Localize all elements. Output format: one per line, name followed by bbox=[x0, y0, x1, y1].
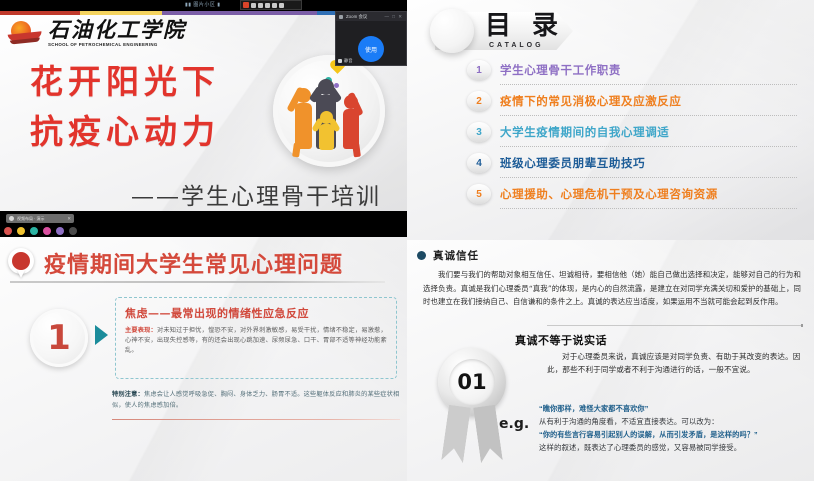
slide4-body-text: 对于心理委员来说，真诚应该是对同学负责、有助于其改变的表达。因此，那些不利于同学… bbox=[547, 350, 802, 376]
slide-catalog-page: 目 录 CATALOG 1 学生心理骨干工作职责 2 疫情下的常见消极心理及应激… bbox=[407, 0, 814, 240]
color-dot-black[interactable] bbox=[69, 227, 77, 235]
logo-chinese-name: 石油化工学院 bbox=[48, 19, 186, 40]
anxiety-note-divider bbox=[112, 419, 400, 420]
medal-ribbon-right bbox=[473, 405, 503, 464]
anxiety-box-lead: 主要表现： bbox=[125, 327, 157, 334]
medal-ring: 01 bbox=[438, 348, 506, 416]
example-line-quote-2: “你的有些言行容易引起别人的误解，从而引发矛盾，是这样的吗？” bbox=[539, 428, 804, 441]
slide2-heading: 疫情期间大学生常见心理问题 bbox=[44, 247, 343, 279]
catalog-item-4[interactable]: 4 班级心理委员朋辈互助技巧 bbox=[467, 155, 797, 186]
example-line-quote-1: “瞧你那样，难怪大家都不喜欢你” bbox=[539, 402, 804, 415]
annotate-text-icon[interactable] bbox=[251, 3, 256, 8]
layout-icon[interactable] bbox=[9, 216, 14, 221]
zoom-window-controls[interactable]: — □ ✕ bbox=[385, 14, 404, 20]
catalog-number-2: 2 bbox=[467, 91, 491, 111]
zoom-window-titlebar[interactable]: Zoom 会议 — □ ✕ bbox=[336, 12, 406, 21]
slide-title-line-2: 抗疫心动力 bbox=[30, 107, 220, 157]
catalog-circle-decoration bbox=[430, 9, 474, 53]
catalog-underline-5 bbox=[500, 207, 797, 209]
slide2-header: 疫情期间大学生常见心理问题 bbox=[8, 247, 343, 279]
catalog-number-1: 1 bbox=[467, 60, 491, 80]
anxiety-note: 特别注意：焦虑会让人感觉呼吸急促、胸闷、身体乏力、肠胃不适。这些躯体反应和肺炎的… bbox=[112, 389, 402, 411]
catalog-label-4: 班级心理委员朋辈互助技巧 bbox=[500, 155, 645, 171]
catalog-number-4: 4 bbox=[467, 153, 491, 173]
location-pin-icon bbox=[8, 248, 34, 278]
color-dot-purple[interactable] bbox=[56, 227, 64, 235]
color-dot-pink[interactable] bbox=[43, 227, 51, 235]
color-bar-purple bbox=[162, 11, 317, 15]
annotate-brush-icon[interactable] bbox=[243, 2, 249, 8]
example-lines: “瞧你那样，难怪大家都不喜欢你” 从有利于沟通的角度看，不适宜直接表达。可以改为… bbox=[539, 402, 804, 454]
anxiety-box-heading: 焦虑——最常出现的情绪性应急反应 bbox=[125, 305, 387, 321]
catalog-underline-4 bbox=[500, 176, 797, 178]
catalog-number-3: 3 bbox=[467, 122, 491, 142]
zoom-primary-button[interactable]: 使用 bbox=[358, 36, 384, 62]
catalog-label-2: 疫情下的常见消极心理及应激反应 bbox=[500, 93, 682, 109]
example-line-note-2: 这样的叙述，既表达了心理委员的感觉，又容易被同学接受。 bbox=[539, 441, 804, 454]
catalog-item-5[interactable]: 5 心理援助、心理危机干预及心理咨询资源 bbox=[467, 186, 797, 217]
annotate-highlight-icon[interactable] bbox=[265, 3, 270, 8]
catalog-title-en: CATALOG bbox=[489, 42, 544, 49]
color-dot-red[interactable] bbox=[4, 227, 12, 235]
catalog-number-5: 5 bbox=[467, 184, 491, 204]
slide-sincerity-page: 真诚信任 我们要与我们的帮助对象相互信任、坦诚相待，要相信他（她）能自己做出选择… bbox=[407, 240, 814, 481]
color-dot-row[interactable] bbox=[4, 227, 77, 235]
color-bar-red bbox=[0, 11, 80, 15]
anxiety-box-body: 主要表现：对未知过于担忧，惶恐不安，对外界刺激敏感，易受干扰，情绪不稳定，易激惹… bbox=[125, 326, 387, 356]
zoom-meeting-window[interactable]: Zoom 会议 — □ ✕ 使用 静音 bbox=[335, 11, 407, 66]
microphone-icon bbox=[338, 59, 342, 63]
color-dot-yellow[interactable] bbox=[17, 227, 25, 235]
catalog-underline-1 bbox=[500, 83, 797, 85]
left-slide-column: ▮▮ 图片小区 ▮ bbox=[0, 0, 407, 481]
arrow-right-icon bbox=[95, 325, 108, 345]
zoom-mute-label: 静音 bbox=[344, 58, 352, 64]
example-label: e.g. bbox=[499, 416, 529, 432]
zoom-app-icon bbox=[339, 15, 343, 19]
close-icon[interactable]: ✕ bbox=[67, 216, 71, 222]
slide4-paragraph: 我们要与我们的帮助对象相互信任、坦诚相待，要相信他（她）能自己做出选择和决定，能… bbox=[423, 268, 801, 309]
slide4-divider bbox=[547, 325, 802, 326]
right-slide-column: 目 录 CATALOG 1 学生心理骨干工作职责 2 疫情下的常见消极心理及应激… bbox=[407, 0, 814, 481]
slide-anxiety-page: 疫情期间大学生常见心理问题 1 焦虑——最常出现的情绪性应急反应 主要表现：对未… bbox=[0, 237, 407, 481]
catalog-label-1: 学生心理骨干工作职责 bbox=[500, 62, 621, 78]
presentation-screen-capture: ▮▮ 图片小区 ▮ bbox=[0, 0, 814, 481]
catalog-item-1[interactable]: 1 学生心理骨干工作职责 bbox=[467, 62, 797, 93]
zoom-window-title: Zoom 会议 bbox=[346, 14, 367, 20]
catalog-label-5: 心理援助、心理危机干预及心理咨询资源 bbox=[500, 186, 718, 202]
annotate-eraser-icon[interactable] bbox=[279, 3, 284, 8]
os-status-bar: ▮▮ 图片小区 ▮ bbox=[0, 0, 407, 11]
slide4-header: 真诚信任 bbox=[417, 248, 479, 263]
slide4-subheading: 真诚不等于说实话 bbox=[515, 332, 607, 348]
screen-annotation-toolbar[interactable] bbox=[240, 0, 302, 10]
example-line-note-1: 从有利于沟通的角度看，不适宜直接表达。可以改为： bbox=[539, 415, 804, 428]
sunrise-logo-icon bbox=[8, 20, 42, 46]
anxiety-box-text: 对未知过于担忧，惶恐不安，对外界刺激敏感，易受干扰，情绪不稳定，易激惹，心神不安… bbox=[125, 327, 387, 354]
zoom-mute-control[interactable]: 静音 bbox=[338, 58, 352, 64]
medal-badge: 01 bbox=[429, 348, 515, 466]
slide2-divider bbox=[10, 281, 385, 283]
catalog-item-2[interactable]: 2 疫情下的常见消极心理及应激反应 bbox=[467, 93, 797, 124]
catalog-title-cn: 目 录 bbox=[485, 13, 564, 39]
anxiety-info-box: 焦虑——最常出现的情绪性应急反应 主要表现：对未知过于担忧，惶恐不安，对外界刺激… bbox=[115, 297, 397, 379]
catalog-underline-3 bbox=[500, 145, 797, 147]
family-illustration bbox=[273, 55, 385, 167]
status-bar-text: ▮▮ 图片小区 ▮ bbox=[185, 1, 221, 8]
meeting-control-pill[interactable]: 视频布局 · 演示 ✕ bbox=[6, 214, 74, 223]
slide-title: 花开阳光下 抗疫心动力 bbox=[30, 57, 220, 157]
slide4-heading: 真诚信任 bbox=[433, 248, 479, 263]
color-bar-yellow bbox=[80, 11, 162, 15]
medal-ribbon-left bbox=[441, 405, 471, 464]
catalog-list: 1 学生心理骨干工作职责 2 疫情下的常见消极心理及应激反应 3 大学生疫情期间… bbox=[467, 62, 797, 217]
medal-number: 01 bbox=[449, 359, 495, 405]
step-number-badge: 1 bbox=[30, 309, 88, 367]
catalog-item-3[interactable]: 3 大学生疫情期间的自我心理调适 bbox=[467, 124, 797, 155]
color-dot-teal[interactable] bbox=[30, 227, 38, 235]
catalog-label-3: 大学生疫情期间的自我心理调适 bbox=[500, 124, 669, 140]
bullet-dot-icon bbox=[417, 251, 426, 260]
annotate-arrow-icon[interactable] bbox=[258, 3, 263, 8]
catalog-underline-2 bbox=[500, 114, 797, 116]
slide-title-line-1: 花开阳光下 bbox=[30, 57, 220, 107]
school-logo: 石油化工学院 SCHOOL OF PETROCHEMICAL ENGINEERI… bbox=[8, 19, 186, 47]
logo-english-name: SCHOOL OF PETROCHEMICAL ENGINEERING bbox=[48, 42, 186, 47]
annotate-shape-icon[interactable] bbox=[272, 3, 277, 8]
anxiety-note-text: 焦虑会让人感觉呼吸急促、胸闷、身体乏力、肠胃不适。这些躯体反应和肺炎的某些症状相… bbox=[112, 391, 399, 409]
meeting-control-label: 视频布局 · 演示 bbox=[17, 216, 45, 222]
anxiety-note-lead: 特别注意： bbox=[112, 391, 144, 398]
slide-subtitle: ——学生心理骨干培训 bbox=[131, 177, 381, 211]
